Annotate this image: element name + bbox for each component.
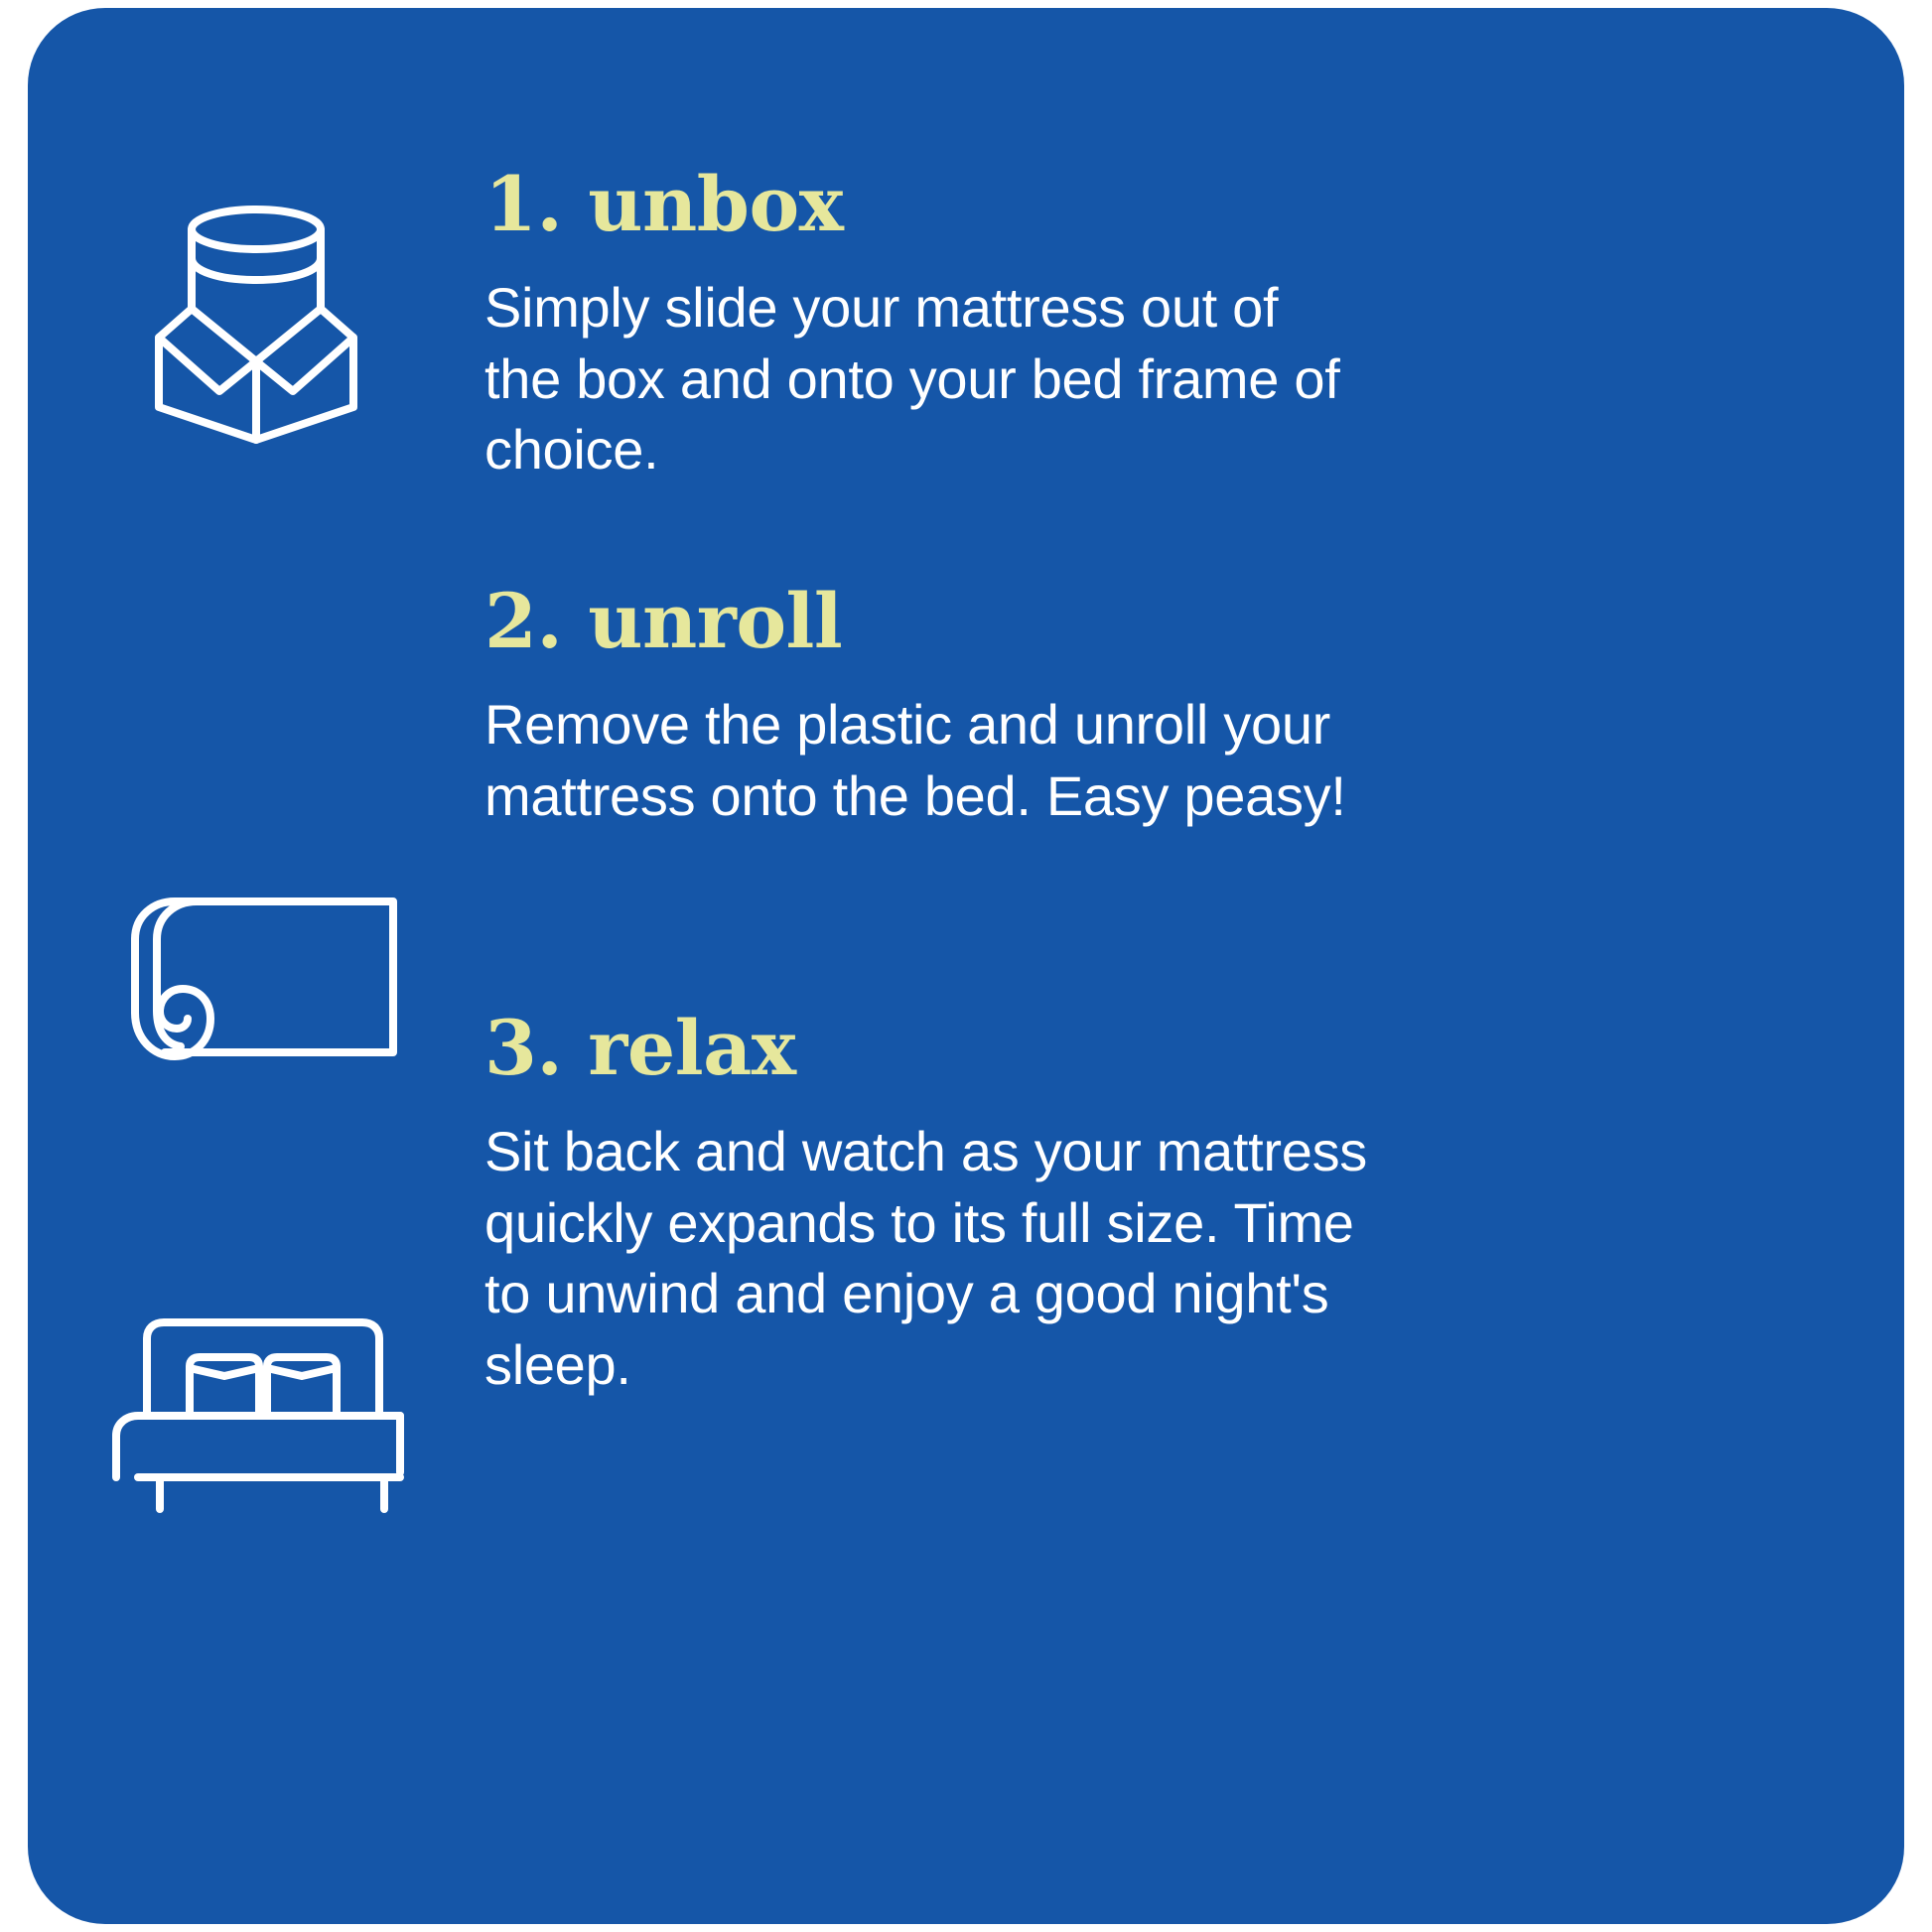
step-unbox-icon-column [28, 167, 484, 445]
step-relax-icon-column [28, 1011, 484, 1517]
step-relax: 3. relax Sit back and watch as your matt… [28, 1011, 1904, 1517]
unbox-icon [142, 197, 370, 445]
step-unroll-heading: 2. unroll [484, 584, 1368, 659]
step-relax-text-column: 3. relax Sit back and watch as your matt… [484, 1011, 1448, 1401]
step-unroll: 2. unroll Remove the plastic and unroll … [28, 584, 1904, 1070]
step-unbox-heading: 1. unbox [484, 167, 1368, 242]
step-relax-body: Sit back and watch as your mattress quic… [484, 1116, 1368, 1401]
step-unbox: 1. unbox Simply slide your mattress out … [28, 167, 1904, 485]
steps-list: 1. unbox Simply slide your mattress out … [28, 8, 1904, 1924]
step-unbox-text-column: 1. unbox Simply slide your mattress out … [484, 167, 1448, 485]
step-relax-heading: 3. relax [484, 1011, 1368, 1086]
bed-icon [102, 1318, 410, 1517]
step-unroll-text-column: 2. unroll Remove the plastic and unroll … [484, 584, 1448, 831]
instructions-card: 1. unbox Simply slide your mattress out … [28, 8, 1904, 1924]
step-unbox-body: Simply slide your mattress out of the bo… [484, 272, 1368, 485]
step-unroll-body: Remove the plastic and unroll your mattr… [484, 689, 1368, 831]
step-unroll-icon-column [28, 584, 484, 1070]
